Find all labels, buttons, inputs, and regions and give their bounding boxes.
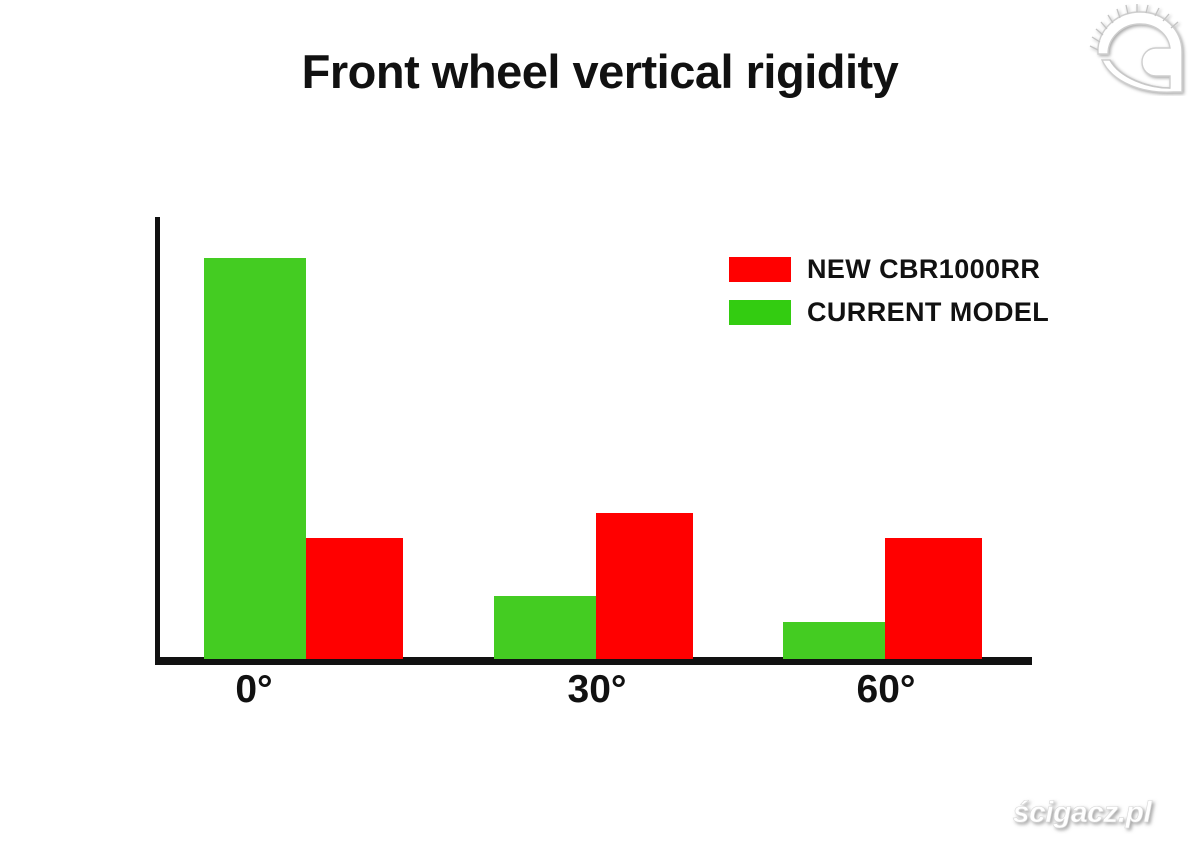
bar-new-cbr1000rr-0deg xyxy=(306,538,403,659)
bar-current-model-0deg xyxy=(204,258,306,659)
legend-swatch-icon-current-model xyxy=(729,300,791,325)
site-watermark-text: ścigacz.pl xyxy=(1013,796,1153,829)
bar-current-model-30deg xyxy=(494,596,596,659)
bar-new-cbr1000rr-30deg xyxy=(596,513,693,659)
y-axis-line xyxy=(155,217,160,662)
x-axis-label-0: 0° xyxy=(199,668,309,712)
legend-label-new-cbr1000rr: NEW CBR1000RR xyxy=(807,254,1040,285)
bar-chart-plot-area: 0° 30° 60° xyxy=(0,0,1200,848)
legend-label-current-model: CURRENT MODEL xyxy=(807,297,1049,328)
legend-swatch-icon-new-cbr1000rr xyxy=(729,257,791,282)
site-watermark: ścigacz.pl xyxy=(982,792,1182,834)
chart-legend: NEW CBR1000RR CURRENT MODEL xyxy=(729,248,1049,334)
x-axis-label-2: 60° xyxy=(816,668,956,712)
x-axis-label-1: 30° xyxy=(527,668,667,712)
legend-item-current-model: CURRENT MODEL xyxy=(729,291,1049,334)
helmet-logo-icon xyxy=(1086,4,1192,96)
bar-new-cbr1000rr-60deg xyxy=(885,538,982,659)
legend-item-new-cbr1000rr: NEW CBR1000RR xyxy=(729,248,1049,291)
bar-current-model-60deg xyxy=(783,622,885,659)
